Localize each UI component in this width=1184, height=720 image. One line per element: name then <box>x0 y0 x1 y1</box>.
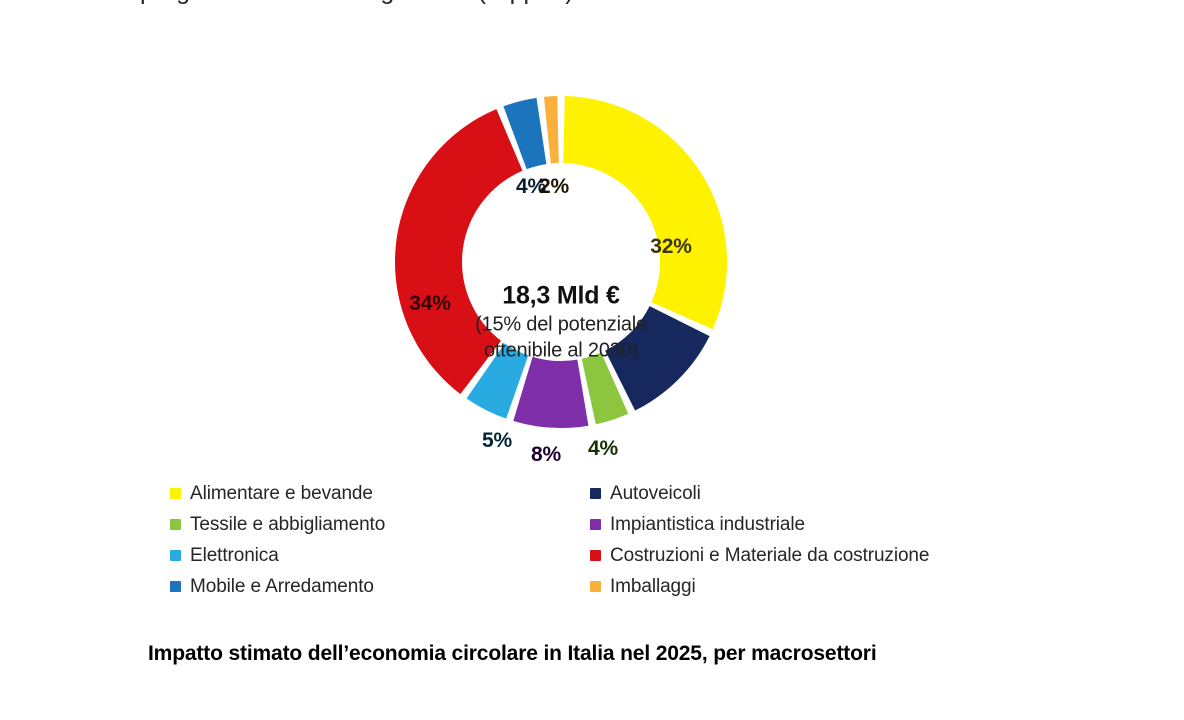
donut-slice[interactable] <box>513 357 588 428</box>
legend-item[interactable]: Imballaggi <box>590 571 1010 602</box>
legend-swatch-icon <box>590 519 601 530</box>
legend-item-label: Elettronica <box>190 545 279 567</box>
legend-item-label: Mobile e Arredamento <box>190 576 374 598</box>
legend-swatch-icon <box>590 581 601 592</box>
legend-swatch-icon <box>170 581 181 592</box>
legend-swatch-icon <box>590 550 601 561</box>
legend-swatch-icon <box>170 550 181 561</box>
legend-item-label: Tessile e abbigliamento <box>190 514 385 536</box>
legend-item-label: Alimentare e bevande <box>190 483 373 505</box>
donut-slice-group <box>395 96 727 428</box>
legend-swatch-icon <box>590 488 601 499</box>
donut-slice[interactable] <box>544 96 559 163</box>
legend-item-label: Imballaggi <box>610 576 696 598</box>
legend-item-label: Costruzioni e Materiale da costruzione <box>610 545 929 567</box>
slide-canvas: progressivo aumento grandi... (clipped) … <box>0 0 1184 720</box>
legend-item[interactable]: Mobile e Arredamento <box>170 571 590 602</box>
legend-swatch-icon <box>170 488 181 499</box>
legend-item[interactable]: Impiantistica industriale <box>590 509 1010 540</box>
donut-chart: 32%11%4%8%5%34%4%2% 18,3 Mld € (15% del … <box>0 60 1184 470</box>
legend-swatch-icon <box>170 519 181 530</box>
donut-slice[interactable] <box>605 306 709 410</box>
donut-slice[interactable] <box>563 96 727 329</box>
legend-item[interactable]: Elettronica <box>170 540 590 571</box>
legend-item[interactable]: Autoveicoli <box>590 478 1010 509</box>
legend-item[interactable]: Costruzioni e Materiale da costruzione <box>590 540 1010 571</box>
legend-item[interactable]: Tessile e abbigliamento <box>170 509 590 540</box>
legend-item-label: Autoveicoli <box>610 483 701 505</box>
donut-svg <box>361 62 761 462</box>
chart-legend: Alimentare e bevandeAutoveicoliTessile e… <box>170 478 1030 602</box>
legend-item-label: Impiantistica industriale <box>610 514 805 536</box>
legend-item[interactable]: Alimentare e bevande <box>170 478 590 509</box>
clipped-top-heading-text: progressivo aumento grandi... (clipped) <box>140 0 1040 8</box>
clipped-top-heading: progressivo aumento grandi... (clipped) <box>140 0 1040 14</box>
chart-caption: Impatto stimato dell’economia circolare … <box>148 640 1148 668</box>
